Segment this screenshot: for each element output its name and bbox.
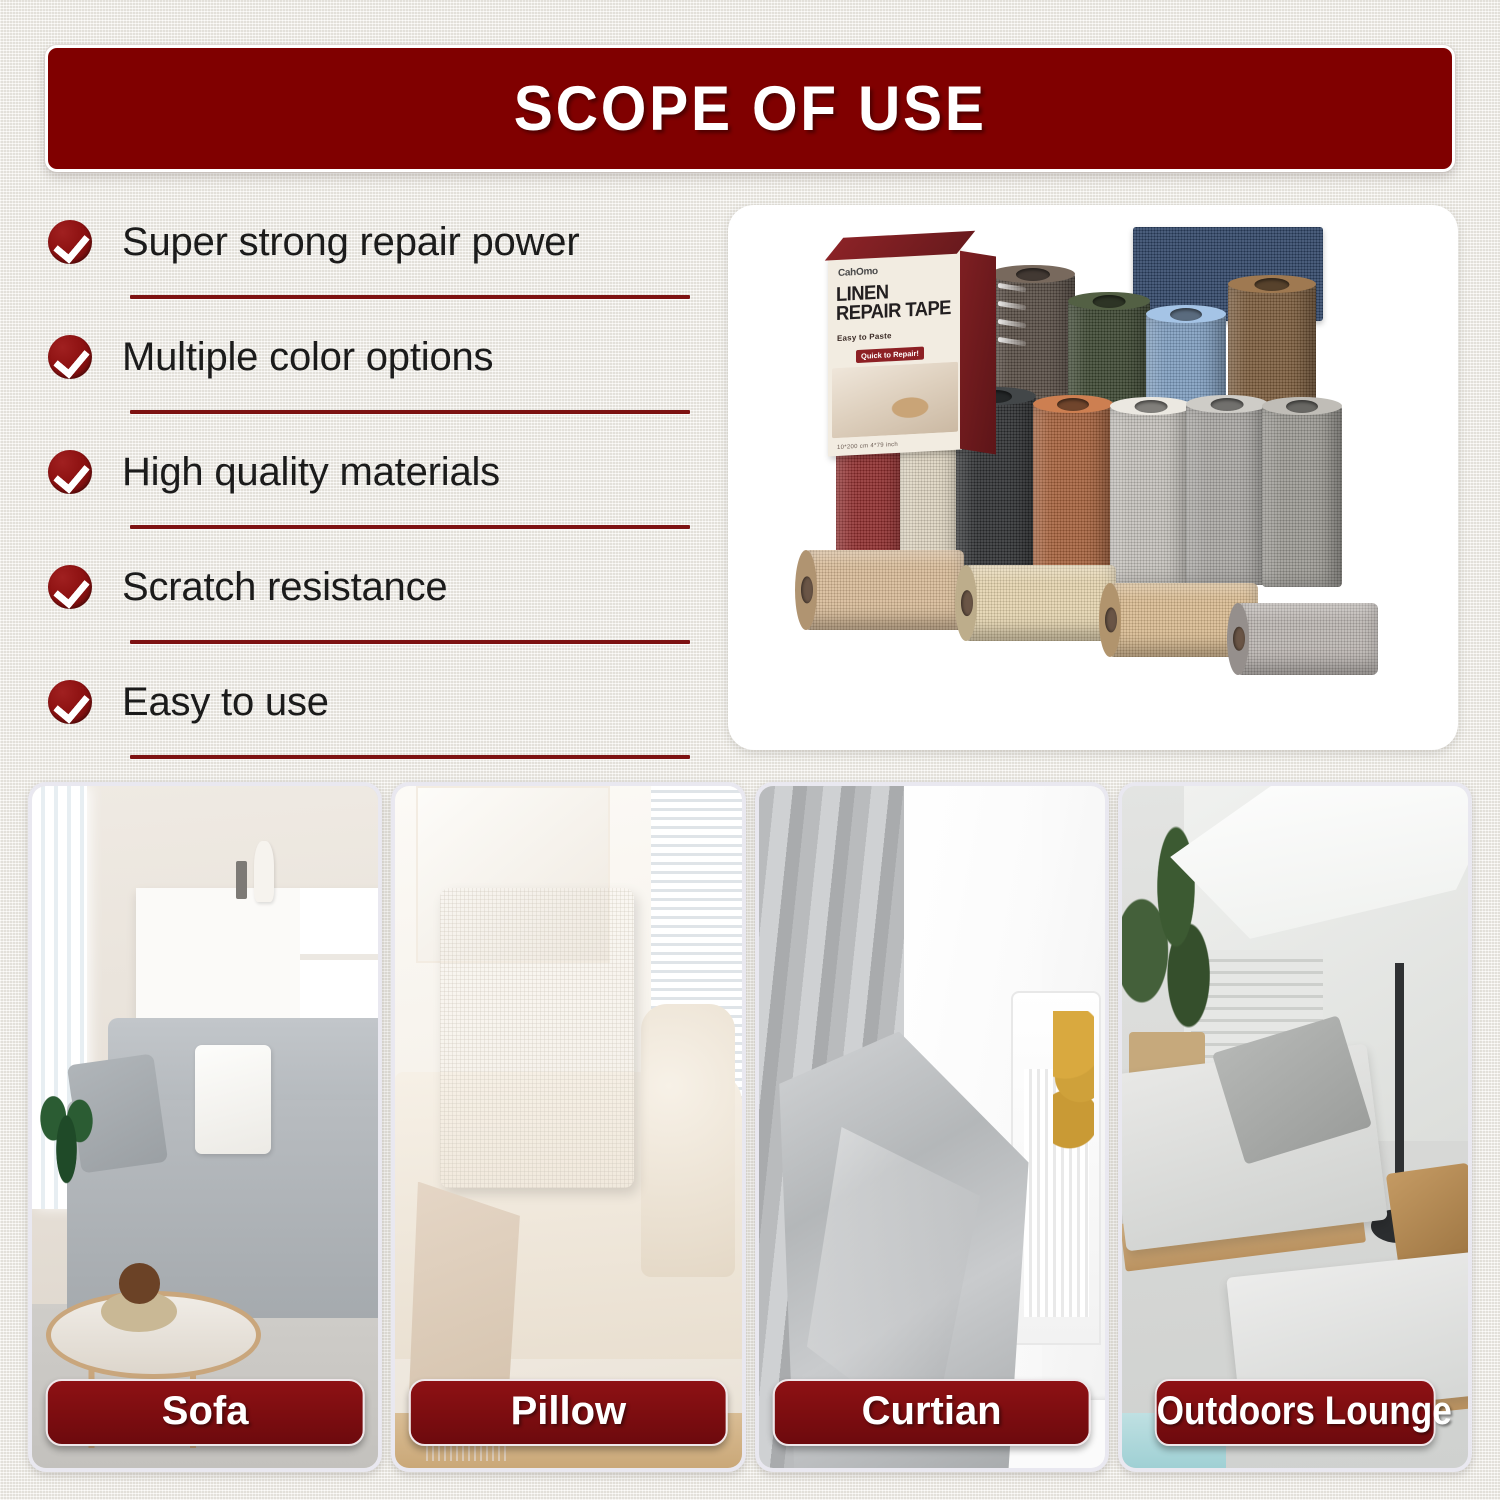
feature-label: Scratch resistance: [122, 565, 447, 610]
brand-logo: CahOmo: [838, 266, 878, 279]
feature-item: High quality materials: [48, 430, 698, 545]
card-label-outdoors-lounge: Outdoors Lounge: [1155, 1379, 1435, 1446]
check-circle-icon: [48, 565, 92, 609]
light-gray-roll: [1110, 405, 1192, 585]
feature-divider: [130, 295, 690, 299]
use-case-card-pillow[interactable]: Pillow: [391, 782, 745, 1472]
feature-divider: [130, 755, 690, 759]
use-case-card-row: Sofa Pillow Curtian: [28, 782, 1472, 1472]
box-cover-photo: [832, 362, 958, 439]
feature-item: Super strong repair power: [48, 200, 698, 315]
box-side-face: [960, 251, 996, 455]
feature-divider: [130, 525, 690, 529]
feature-item: Multiple color options: [48, 315, 698, 430]
feature-divider: [130, 640, 690, 644]
box-feature-bullets: [998, 283, 1026, 359]
warm-gray-roll: [1262, 405, 1342, 587]
beige-roll-lying: [964, 565, 1116, 641]
box-size-spec: 10*200 cm 4*79 inch: [837, 442, 898, 451]
page-title: SCOPE OF USE: [514, 73, 987, 145]
card-label-pillow: Pillow: [409, 1379, 728, 1446]
tan-roll-lying: [804, 550, 964, 630]
use-case-card-outdoors-lounge[interactable]: Outdoors Lounge: [1118, 782, 1472, 1472]
box-top-face: [825, 231, 975, 261]
use-case-card-curtain[interactable]: Curtian: [755, 782, 1109, 1472]
check-circle-icon: [48, 220, 92, 264]
linen-pillow-chair-photo: [395, 786, 741, 1468]
feature-divider: [130, 410, 690, 414]
product-image-panel: CahOmo LINEN REPAIR TAPE Easy to Paste Q…: [728, 205, 1458, 750]
feature-label: High quality materials: [122, 450, 500, 495]
check-circle-icon: [48, 680, 92, 724]
box-tagline-1: Easy to Paste: [837, 331, 892, 343]
use-case-card-sofa[interactable]: Sofa: [28, 782, 382, 1472]
gray-curtain-fabric-photo: [759, 786, 1105, 1468]
living-room-sofa-photo: [32, 786, 378, 1468]
check-circle-icon: [48, 450, 92, 494]
box-tagline-2: Quick to Repair!: [856, 346, 924, 363]
feature-label: Easy to use: [122, 680, 329, 725]
feature-label: Super strong repair power: [122, 220, 579, 265]
box-product-title: LINEN REPAIR TAPE: [836, 280, 951, 324]
feature-label: Multiple color options: [122, 335, 493, 380]
gray-roll: [1186, 403, 1268, 585]
card-label-sofa: Sofa: [46, 1379, 365, 1446]
outdoor-lounger-umbrella-photo: [1122, 786, 1468, 1468]
feature-item: Easy to use: [48, 660, 698, 775]
card-label-curtain: Curtian: [772, 1379, 1091, 1446]
pale-gray-roll-lying: [1236, 603, 1378, 675]
tape-rolls-arrangement: CahOmo LINEN REPAIR TAPE Easy to Paste Q…: [728, 205, 1458, 750]
scope-of-use-banner: SCOPE OF USE: [45, 45, 1455, 172]
feature-item: Scratch resistance: [48, 545, 698, 660]
product-retail-box: CahOmo LINEN REPAIR TAPE Easy to Paste Q…: [828, 249, 962, 456]
feature-list: Super strong repair power Multiple color…: [48, 200, 698, 775]
rust-roll: [1033, 403, 1113, 588]
check-circle-icon: [48, 335, 92, 379]
